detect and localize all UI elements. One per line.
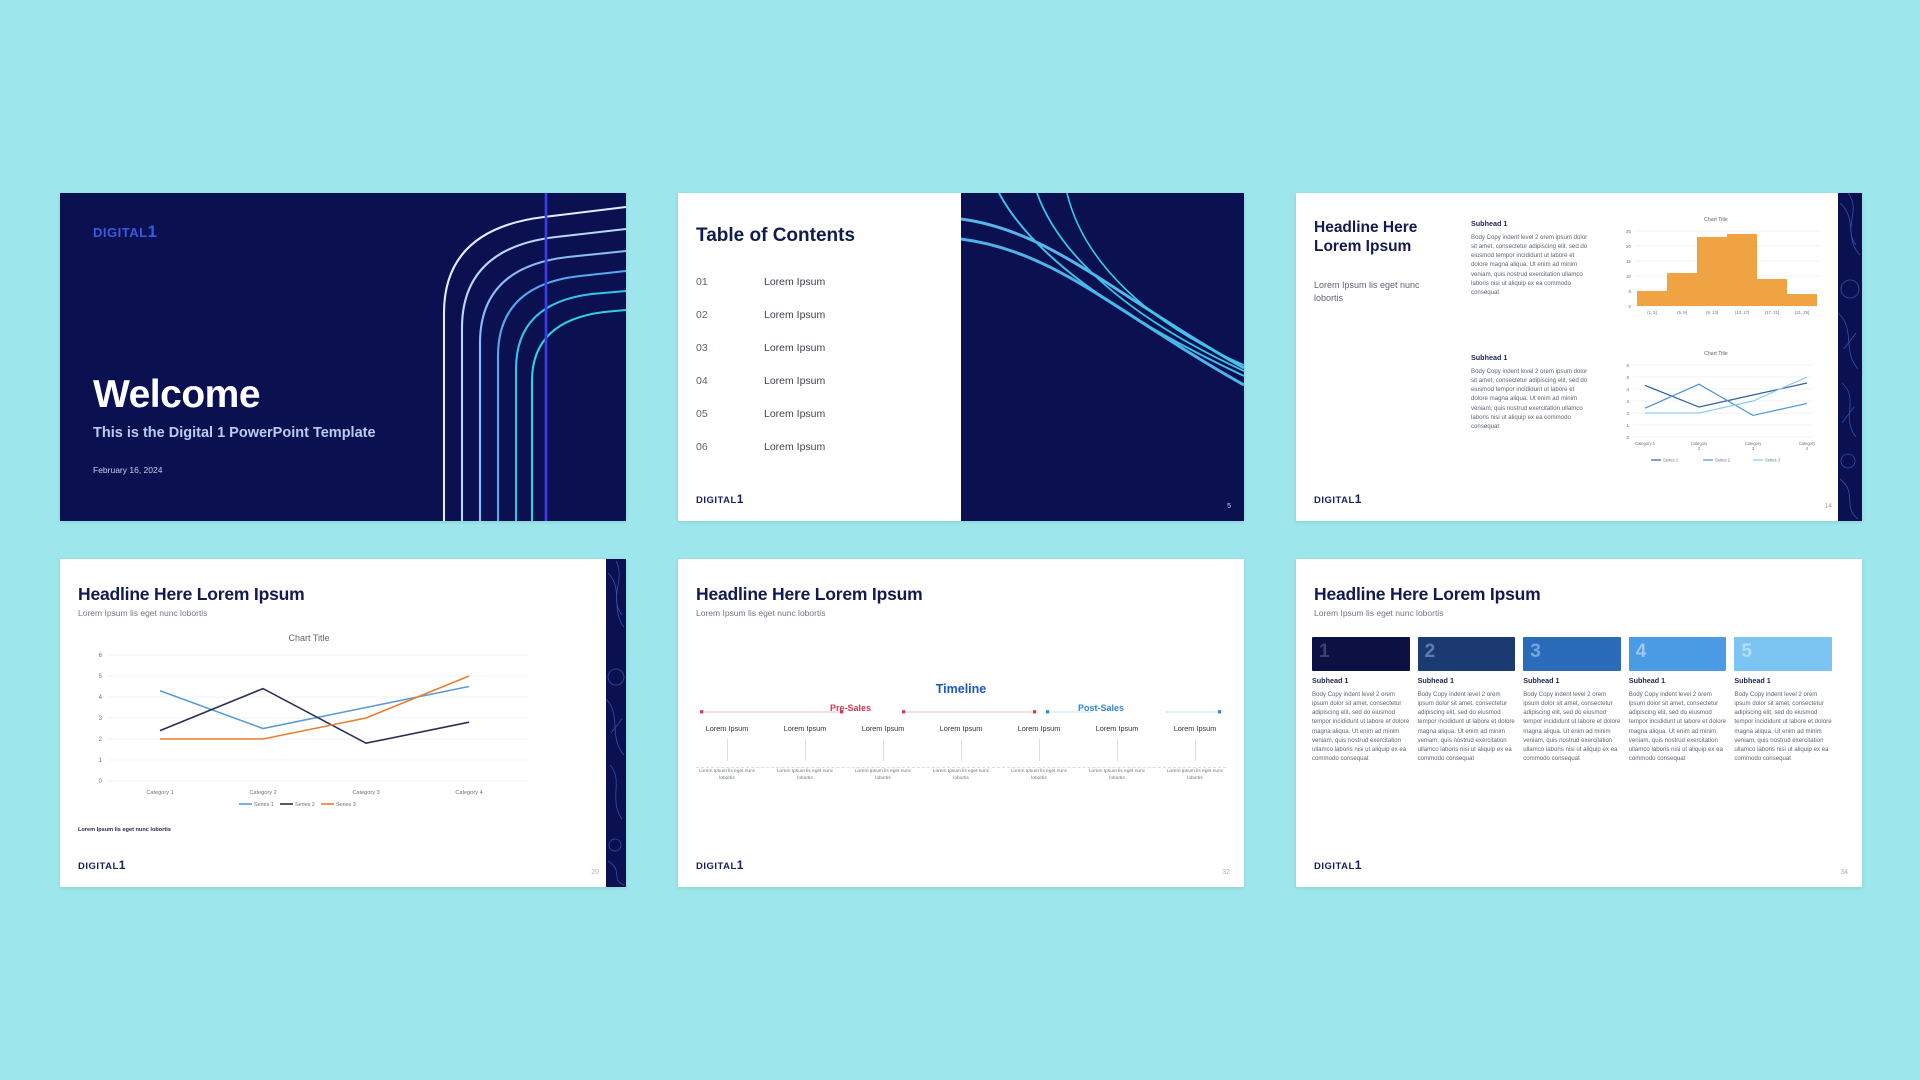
toc-item-label: Lorem Ipsum (764, 375, 825, 387)
svg-text:Series 2: Series 2 (295, 802, 315, 807)
svg-text:3: 3 (1752, 446, 1755, 451)
svg-text:1: 1 (1626, 423, 1629, 428)
chart-title: Chart Title (84, 633, 534, 643)
milestone-tick (1039, 739, 1040, 761)
svg-text:Category 2: Category 2 (249, 790, 276, 796)
toc-item-number: 01 (696, 276, 764, 288)
card-color-block: 3 (1523, 637, 1621, 671)
svg-text:25: 25 (1626, 229, 1632, 234)
brand-logo: DIGITAL1 (696, 856, 744, 874)
headline-line-2: Lorem Ipsum (1314, 238, 1411, 255)
post-sales-label: Post-Sales (1078, 703, 1124, 713)
chart-footnote: Lorem Ipsum lis eget nunc lobortis (78, 827, 171, 833)
logo-wordmark: DIGITAL (93, 225, 148, 240)
svg-text:5: 5 (1626, 375, 1629, 380)
milestone-tick (961, 739, 962, 761)
toc-item-label: Lorem Ipsum (764, 309, 825, 321)
milestone-title: Lorem Ipsum (1156, 724, 1234, 733)
card-number: 4 (1636, 641, 1647, 663)
logo-numeral: 1 (119, 858, 126, 872)
decorative-edge-strip (1838, 193, 1862, 521)
toc-item-label: Lorem Ipsum (764, 276, 825, 288)
list-item[interactable]: 06 Lorem Ipsum (696, 430, 946, 463)
svg-text:0: 0 (1628, 304, 1631, 309)
svg-text:2: 2 (1626, 411, 1629, 416)
page-number: 20 (591, 869, 599, 876)
card-number: 2 (1425, 641, 1436, 663)
slide-table-of-contents[interactable]: Table of Contents 01 Lorem Ipsum 02 Lore… (678, 193, 1244, 521)
svg-text:0: 0 (99, 779, 103, 785)
card-subhead: Subhead 1 (1312, 676, 1410, 685)
svg-text:3: 3 (1626, 399, 1629, 404)
list-item[interactable]: Lorem Ipsum Lorem Ipsum lis eget nunc lo… (844, 724, 922, 783)
headline-line-1: Headline Here (1314, 219, 1417, 236)
svg-text:(13, 17]: (13, 17] (1735, 310, 1749, 315)
card-body: Body Copy indent level 2 orem ipsum dolo… (1734, 690, 1832, 763)
milestone-title: Lorem Ipsum (922, 724, 1000, 733)
milestone-body: Lorem Ipsum lis eget nunc lobortis (692, 769, 762, 783)
svg-text:Series 1: Series 1 (254, 802, 274, 807)
headline-lede: Lorem Ipsum lis eget nunc lobortis (1314, 279, 1444, 305)
svg-text:20: 20 (1626, 244, 1632, 249)
brand-logo: DIGITAL1 (93, 222, 158, 242)
logo-wordmark: DIGITAL (78, 861, 119, 872)
line-chart-large: Chart Title 654 3210 (84, 633, 534, 808)
pre-sales-label: Pre-Sales (830, 703, 871, 713)
milestone-tick (727, 739, 728, 761)
toc-item-number: 04 (696, 375, 764, 387)
brand-logo: DIGITAL1 (1314, 490, 1362, 508)
card[interactable]: 1 Subhead 1 Body Copy indent level 2 ore… (1312, 637, 1410, 763)
logo-numeral: 1 (737, 492, 744, 506)
logo-wordmark: DIGITAL (1314, 861, 1355, 872)
content-column-top: Subhead 1 Body Copy indent level 2 orem … (1471, 219, 1591, 297)
svg-text:15: 15 (1626, 259, 1632, 264)
card-number: 1 (1319, 641, 1330, 663)
svg-text:Series 1: Series 1 (1663, 458, 1679, 463)
timeline-axis (700, 705, 1222, 719)
svg-text:5: 5 (1628, 289, 1631, 294)
svg-text:Series 3: Series 3 (1765, 458, 1781, 463)
svg-text:4: 4 (99, 695, 103, 701)
milestone-tick (883, 739, 884, 761)
page-title: Headline Here Lorem Ipsum (1314, 584, 1540, 605)
svg-text:1: 1 (99, 758, 103, 764)
logo-wordmark: DIGITAL (1314, 495, 1355, 506)
card-color-block: 4 (1629, 637, 1727, 671)
svg-text:(1, 5]: (1, 5] (1647, 310, 1657, 315)
milestone-body: Lorem Ipsum lis eget nunc lobortis (848, 769, 918, 783)
slide-five-cards[interactable]: Headline Here Lorem Ipsum Lorem Ipsum li… (1296, 559, 1862, 887)
card-body: Body Copy indent level 2 orem ipsum dolo… (1523, 690, 1621, 763)
slide-deck-overview: DIGITAL1 Welcome This is the Digital 1 P… (0, 0, 1920, 1080)
welcome-title: Welcome (93, 373, 260, 417)
milestone-body: Lorem Ipsum lis eget nunc lobortis (1082, 769, 1152, 783)
svg-text:Category 1: Category 1 (1635, 441, 1656, 446)
subhead: Subhead 1 (1471, 353, 1591, 362)
histogram-chart: Chart Title 252015 1050 (1611, 217, 1821, 334)
card-number: 5 (1741, 641, 1752, 663)
toc-title: Table of Contents (696, 225, 855, 247)
brand-logo: DIGITAL1 (1314, 856, 1362, 874)
svg-text:0: 0 (1626, 435, 1629, 440)
slide-two-charts[interactable]: Headline HereLorem Ipsum Lorem Ipsum lis… (1296, 193, 1862, 521)
toc-panel: Table of Contents 01 Lorem Ipsum 02 Lore… (678, 193, 961, 521)
svg-text:3: 3 (99, 716, 103, 722)
toc-item-label: Lorem Ipsum (764, 441, 825, 453)
svg-text:6: 6 (1626, 363, 1629, 368)
svg-text:(5, 9]: (5, 9] (1677, 310, 1687, 315)
card-subhead: Subhead 1 (1734, 676, 1832, 685)
logo-wordmark: DIGITAL (696, 861, 737, 872)
milestone-title: Lorem Ipsum (1078, 724, 1156, 733)
list-item[interactable]: Lorem Ipsum Lorem Ipsum lis eget nunc lo… (766, 724, 844, 783)
svg-text:6: 6 (99, 653, 103, 659)
subhead: Subhead 1 (1471, 219, 1591, 228)
page-subtitle: Lorem Ipsum lis eget nunc lobortis (78, 608, 207, 618)
list-item[interactable]: 02 Lorem Ipsum (696, 298, 946, 331)
page-title: Headline HereLorem Ipsum (1314, 219, 1417, 257)
timeline-divider (696, 767, 1226, 768)
milestone-title: Lorem Ipsum (688, 724, 766, 733)
content-column-bottom: Subhead 1 Body Copy indent level 2 orem … (1471, 353, 1591, 431)
page-title: Headline Here Lorem Ipsum (78, 584, 304, 605)
svg-text:4: 4 (1806, 446, 1809, 451)
card-color-block: 2 (1418, 637, 1516, 671)
card[interactable]: 5 Subhead 1 Body Copy indent level 2 ore… (1734, 637, 1832, 763)
timeline-milestones: Lorem Ipsum Lorem Ipsum lis eget nunc lo… (688, 724, 1234, 783)
page-number: 14 (1824, 503, 1832, 510)
slide-timeline[interactable]: Headline Here Lorem Ipsum Lorem Ipsum li… (678, 559, 1244, 887)
list-item[interactable]: 04 Lorem Ipsum (696, 364, 946, 397)
arc-line-artwork (426, 193, 626, 521)
card-color-block: 5 (1734, 637, 1832, 671)
logo-numeral: 1 (148, 222, 158, 241)
line-chart-mini: Chart Title 654 3210 (1611, 351, 1821, 474)
toc-item-number: 06 (696, 441, 764, 453)
card-body: Body Copy indent level 2 orem ipsum dolo… (1312, 690, 1410, 763)
line-plot-large: 654 3210 Category 1Category 2 Category 3… (84, 647, 534, 807)
logo-numeral: 1 (1355, 492, 1362, 506)
page-subtitle: Lorem Ipsum lis eget nunc lobortis (1314, 608, 1443, 618)
brand-logo: DIGITAL1 (78, 856, 126, 874)
svg-text:2: 2 (99, 737, 103, 743)
svg-text:Category 1: Category 1 (146, 790, 173, 796)
welcome-subtitle: This is the Digital 1 PowerPoint Templat… (93, 425, 376, 441)
page-number: 5 (1227, 503, 1231, 510)
card[interactable]: 2 Subhead 1 Body Copy indent level 2 ore… (1418, 637, 1516, 763)
card-color-block: 1 (1312, 637, 1410, 671)
list-item[interactable]: 01 Lorem Ipsum (696, 265, 946, 298)
toc-item-label: Lorem Ipsum (764, 342, 825, 354)
toc-item-number: 03 (696, 342, 764, 354)
chart-title: Chart Title (1611, 351, 1821, 357)
card[interactable]: 3 Subhead 1 Body Copy indent level 2 ore… (1523, 637, 1621, 763)
svg-text:Series 2: Series 2 (1715, 458, 1731, 463)
milestone-body: Lorem Ipsum lis eget nunc lobortis (926, 769, 996, 783)
list-item[interactable]: Lorem Ipsum Lorem Ipsum lis eget nunc lo… (688, 724, 766, 783)
card[interactable]: 4 Subhead 1 Body Copy indent level 2 ore… (1629, 637, 1727, 763)
list-item[interactable]: Lorem Ipsum Lorem Ipsum lis eget nunc lo… (922, 724, 1000, 783)
body-copy: Body Copy indent level 2 orem ipsum dolo… (1471, 367, 1591, 431)
svg-text:4: 4 (1626, 387, 1629, 392)
svg-text:(17, 21]: (17, 21] (1765, 310, 1779, 315)
list-item[interactable]: 03 Lorem Ipsum (696, 331, 946, 364)
milestone-body: Lorem Ipsum lis eget nunc lobortis (770, 769, 840, 783)
list-item[interactable]: Lorem Ipsum Lorem Ipsum lis eget nunc lo… (1000, 724, 1078, 783)
card-subhead: Subhead 1 (1418, 676, 1516, 685)
toc-decorative-panel: 5 (961, 193, 1244, 521)
body-copy: Body Copy indent level 2 orem ipsum dolo… (1471, 233, 1591, 297)
presentation-date: February 16, 2024 (93, 465, 162, 475)
page-subtitle: Lorem Ipsum lis eget nunc lobortis (696, 608, 825, 618)
milestone-body: Lorem Ipsum lis eget nunc lobortis (1004, 769, 1074, 783)
card-subhead: Subhead 1 (1629, 676, 1727, 685)
svg-text:(21, 25]: (21, 25] (1795, 310, 1809, 315)
card-body: Body Copy indent level 2 orem ipsum dolo… (1629, 690, 1727, 763)
slide-title[interactable]: DIGITAL1 Welcome This is the Digital 1 P… (60, 193, 626, 521)
milestone-tick (805, 739, 806, 761)
page-number: 34 (1840, 869, 1848, 876)
toc-list: 01 Lorem Ipsum 02 Lorem Ipsum 03 Lorem I… (696, 265, 946, 463)
histogram-plot: 252015 1050 (1, 5](5, 9](9, 13] (13, 17]… (1611, 225, 1821, 329)
card-number: 3 (1530, 641, 1541, 663)
milestone-title: Lorem Ipsum (1000, 724, 1078, 733)
card-grid: 1 Subhead 1 Body Copy indent level 2 ore… (1312, 637, 1832, 763)
page-title: Headline Here Lorem Ipsum (696, 584, 922, 605)
list-item[interactable]: Lorem Ipsum Lorem Ipsum lis eget nunc lo… (1078, 724, 1156, 783)
toc-item-number: 05 (696, 408, 764, 420)
svg-text:5: 5 (99, 674, 103, 680)
svg-text:Category 3: Category 3 (352, 790, 379, 796)
brand-logo: DIGITAL1 (696, 490, 744, 508)
milestone-title: Lorem Ipsum (844, 724, 922, 733)
list-item[interactable]: 05 Lorem Ipsum (696, 397, 946, 430)
decorative-edge-strip (606, 559, 626, 887)
logo-wordmark: DIGITAL (696, 495, 737, 506)
timeline-title: Timeline (678, 682, 1244, 696)
svg-text:2: 2 (1698, 446, 1701, 451)
list-item[interactable]: Lorem Ipsum Lorem Ipsum lis eget nunc lo… (1156, 724, 1234, 783)
svg-text:10: 10 (1626, 274, 1632, 279)
svg-text:Series 3: Series 3 (336, 802, 356, 807)
svg-text:Category 4: Category 4 (455, 790, 482, 796)
milestone-tick (1117, 739, 1118, 761)
abstract-line-artwork (606, 559, 626, 887)
swoosh-line-artwork (961, 193, 1244, 521)
svg-text:(9, 13]: (9, 13] (1706, 310, 1718, 315)
logo-numeral: 1 (737, 858, 744, 872)
abstract-line-artwork (1838, 193, 1862, 521)
line-plot-mini: 654 3210 Category 1Category2 Category3 C… (1611, 359, 1821, 469)
chart-title: Chart Title (1611, 217, 1821, 223)
card-body: Body Copy indent level 2 orem ipsum dolo… (1418, 690, 1516, 763)
page-number: 32 (1222, 869, 1230, 876)
slide-line-chart[interactable]: Headline Here Lorem Ipsum Lorem Ipsum li… (60, 559, 626, 887)
milestone-title: Lorem Ipsum (766, 724, 844, 733)
milestone-tick (1195, 739, 1196, 761)
logo-numeral: 1 (1355, 858, 1362, 872)
card-subhead: Subhead 1 (1523, 676, 1621, 685)
milestone-body: Lorem Ipsum lis eget nunc lobortis (1160, 769, 1230, 783)
toc-item-number: 02 (696, 309, 764, 321)
toc-item-label: Lorem Ipsum (764, 408, 825, 420)
